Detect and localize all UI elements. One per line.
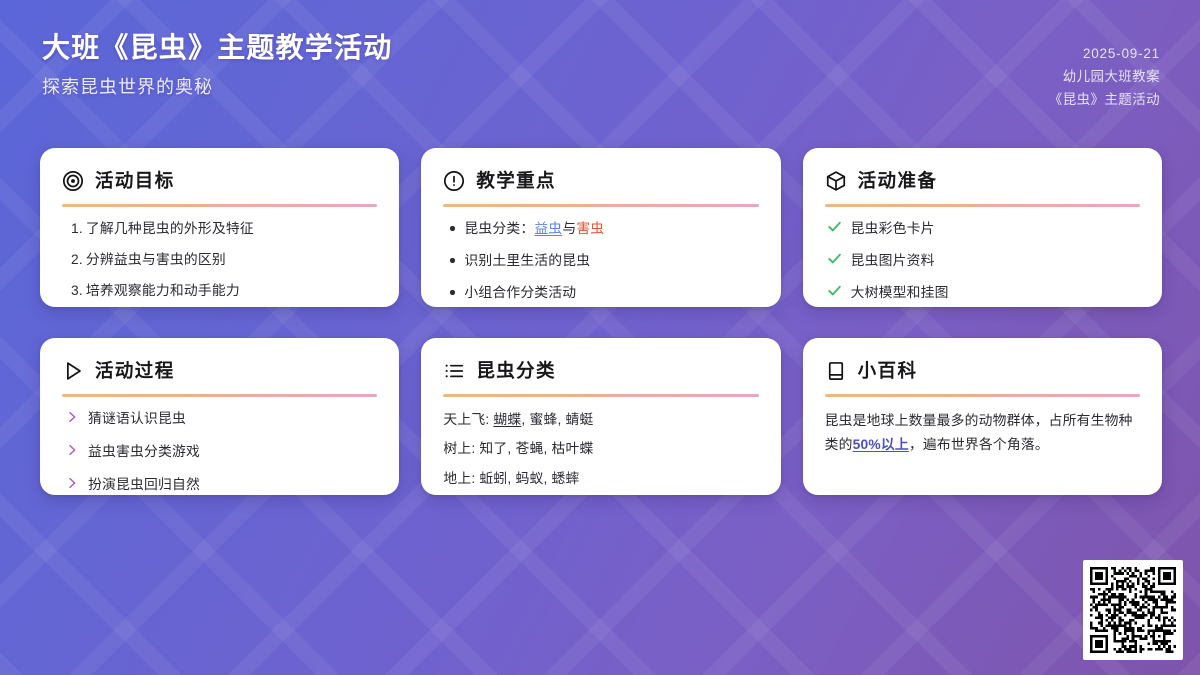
- objective-list: 1.了解几种昆虫的外形及特征2.分辨益虫与害虫的区别3.培养观察能力和动手能力: [62, 219, 377, 301]
- card-process: 活动过程猜谜语认识昆虫益虫害虫分类游戏扮演昆虫回归自然: [40, 338, 399, 495]
- chevron-right-icon: [65, 475, 79, 491]
- card-body: 猜谜语认识昆虫益虫害虫分类游戏扮演昆虫回归自然: [62, 409, 377, 495]
- check-icon: [826, 250, 843, 267]
- card-divider: [62, 204, 377, 207]
- list-item-number: 1.: [71, 221, 83, 236]
- card-title: 活动目标: [95, 172, 175, 191]
- card-body: 昆虫是地球上数量最多的动物群体，占所有生物种类的50%以上，遍布世界各个角落。: [825, 409, 1140, 456]
- chevron-right-icon: [65, 442, 79, 458]
- highlighted-insect[interactable]: 蝴蝶: [493, 412, 521, 427]
- chevron-right-icon: [65, 409, 79, 425]
- card-body: 昆虫彩色卡片昆虫图片资料大树模型和挂图: [825, 219, 1140, 303]
- card-header: 小百科: [825, 357, 1140, 385]
- list-icon: [443, 360, 465, 382]
- card-encyclopedia: 小百科昆虫是地球上数量最多的动物群体，占所有生物种类的50%以上，遍布世界各个角…: [803, 338, 1162, 495]
- slide-root: 大班《昆虫》主题教学活动 探索昆虫世界的奥秘 2025-09-21 幼儿园大班教…: [0, 0, 1200, 675]
- list-item: 大树模型和挂图: [825, 283, 1140, 303]
- habitat-label: 地上:: [443, 471, 479, 486]
- insect-names: 知了, 苍蝇, 枯叶蝶: [479, 441, 593, 456]
- classification-line: 树上: 知了, 苍蝇, 枯叶蝶: [443, 438, 758, 459]
- list-item-label: 昆虫分类：: [464, 221, 534, 236]
- card-classification: 昆虫分类天上飞: 蝴蝶, 蜜蜂, 蜻蜓树上: 知了, 苍蝇, 枯叶蝶地上: 蚯蚓…: [421, 338, 780, 495]
- list-item-label: 培养观察能力和动手能力: [86, 283, 240, 298]
- classification-line: 天上飞: 蝴蝶, 蜜蜂, 蜻蜓: [443, 409, 758, 430]
- list-item-label: 益虫害虫分类游戏: [88, 444, 200, 459]
- card-divider: [443, 204, 758, 207]
- list-item: 识别土里生活的昆虫: [443, 251, 758, 271]
- list-item: 昆虫彩色卡片: [825, 219, 1140, 239]
- page-subtitle: 探索昆虫世界的奥秘: [42, 73, 392, 99]
- card-preparation: 活动准备昆虫彩色卡片昆虫图片资料大树模型和挂图: [803, 148, 1162, 307]
- list-item: 2.分辨益虫与害虫的区别: [62, 250, 377, 270]
- card-divider: [825, 394, 1140, 397]
- list-item-label: 大树模型和挂图: [851, 285, 949, 300]
- list-item: 昆虫图片资料: [825, 251, 1140, 271]
- check-icon: [826, 282, 843, 299]
- insect-names: 蚯蚓, 蚂蚁, 蟋蟀: [479, 471, 579, 486]
- target-icon: [62, 170, 84, 192]
- card-header: 活动目标: [62, 167, 377, 195]
- list-item-label: 分辨益虫与害虫的区别: [86, 252, 226, 267]
- card-divider: [825, 204, 1140, 207]
- list-item-label: 猜谜语认识昆虫: [88, 411, 186, 426]
- play-icon: [62, 360, 84, 382]
- qr-code-image: [1090, 567, 1176, 653]
- list-item-label: 昆虫图片资料: [851, 253, 935, 268]
- list-item: 3.培养观察能力和动手能力: [62, 281, 377, 301]
- alert-circle-icon: [443, 170, 465, 192]
- pest-insect-label: 害虫: [576, 221, 604, 236]
- card-divider: [443, 394, 758, 397]
- header-title-group: 大班《昆虫》主题教学活动 探索昆虫世界的奥秘: [40, 30, 392, 99]
- card-goals: 活动目标1.了解几种昆虫的外形及特征2.分辨益虫与害虫的区别3.培养观察能力和动…: [40, 148, 399, 307]
- habitat-label: 树上:: [443, 441, 479, 456]
- meta-theme: 《昆虫》主题活动: [1049, 88, 1160, 111]
- meta-date: 2025-09-21: [1049, 42, 1160, 65]
- list-item: 昆虫分类：益虫与害虫: [443, 219, 758, 239]
- card-header: 昆虫分类: [443, 357, 758, 385]
- list-item: 猜谜语认识昆虫: [62, 409, 377, 429]
- beneficial-insect-link[interactable]: 益虫: [534, 221, 562, 236]
- list-item-label: 了解几种昆虫的外形及特征: [86, 221, 254, 236]
- slide-header: 大班《昆虫》主题教学活动 探索昆虫世界的奥秘 2025-09-21 幼儿园大班教…: [0, 0, 1200, 125]
- card-header: 活动过程: [62, 357, 377, 385]
- list-item-label: 识别土里生活的昆虫: [464, 253, 590, 268]
- card-title: 活动准备: [858, 172, 938, 191]
- card-divider: [62, 394, 377, 397]
- keypoint-list: 昆虫分类：益虫与害虫识别土里生活的昆虫小组合作分类活动: [443, 219, 758, 303]
- habitat-label: 天上飞:: [443, 412, 493, 427]
- check-icon: [826, 218, 843, 235]
- card-header: 教学重点: [443, 167, 758, 195]
- insect-names: , 蜜蜂, 蜻蜓: [521, 412, 593, 427]
- list-item: 扮演昆虫回归自然: [62, 475, 377, 495]
- materials-list: 昆虫彩色卡片昆虫图片资料大树模型和挂图: [825, 219, 1140, 303]
- classification-line: 地上: 蚯蚓, 蚂蚁, 蟋蟀: [443, 468, 758, 489]
- card-title: 教学重点: [476, 172, 556, 191]
- fact-statistic[interactable]: 50%以上: [853, 437, 909, 452]
- card-body: 1.了解几种昆虫的外形及特征2.分辨益虫与害虫的区别3.培养观察能力和动手能力: [62, 219, 377, 301]
- fact-text-post: ，遍布世界各个角落。: [909, 437, 1049, 452]
- meta-category: 幼儿园大班教案: [1049, 65, 1160, 88]
- card-header: 活动准备: [825, 167, 1140, 195]
- card-grid: 活动目标1.了解几种昆虫的外形及特征2.分辨益虫与害虫的区别3.培养观察能力和动…: [40, 148, 1162, 495]
- box-icon: [825, 170, 847, 192]
- list-item-label: 小组合作分类活动: [464, 285, 576, 300]
- list-item: 1.了解几种昆虫的外形及特征: [62, 219, 377, 239]
- list-item: 小组合作分类活动: [443, 283, 758, 303]
- card-body: 昆虫分类：益虫与害虫识别土里生活的昆虫小组合作分类活动: [443, 219, 758, 303]
- list-item-label: 扮演昆虫回归自然: [88, 477, 200, 492]
- card-key-points: 教学重点昆虫分类：益虫与害虫识别土里生活的昆虫小组合作分类活动: [421, 148, 780, 307]
- card-title: 昆虫分类: [476, 362, 556, 381]
- card-title: 小百科: [858, 362, 918, 381]
- classification-lines: 天上飞: 蝴蝶, 蜜蜂, 蜻蜓树上: 知了, 苍蝇, 枯叶蝶地上: 蚯蚓, 蚂蚁…: [443, 409, 758, 489]
- page-title: 大班《昆虫》主题教学活动: [42, 30, 392, 66]
- list-item-number: 2.: [71, 252, 83, 267]
- book-icon: [825, 360, 847, 382]
- card-body: 天上飞: 蝴蝶, 蜜蜂, 蜻蜓树上: 知了, 苍蝇, 枯叶蝶地上: 蚯蚓, 蚂蚁…: [443, 409, 758, 489]
- card-title: 活动过程: [95, 362, 175, 381]
- qr-code[interactable]: [1083, 560, 1183, 660]
- fact-paragraph: 昆虫是地球上数量最多的动物群体，占所有生物种类的50%以上，遍布世界各个角落。: [825, 409, 1140, 456]
- list-item-label: 昆虫彩色卡片: [851, 221, 935, 236]
- list-item-conjunction: 与: [562, 221, 576, 236]
- process-list: 猜谜语认识昆虫益虫害虫分类游戏扮演昆虫回归自然: [62, 409, 377, 495]
- header-meta: 2025-09-21 幼儿园大班教案 《昆虫》主题活动: [1049, 30, 1160, 112]
- list-item: 益虫害虫分类游戏: [62, 442, 377, 462]
- list-item-number: 3.: [71, 283, 83, 298]
